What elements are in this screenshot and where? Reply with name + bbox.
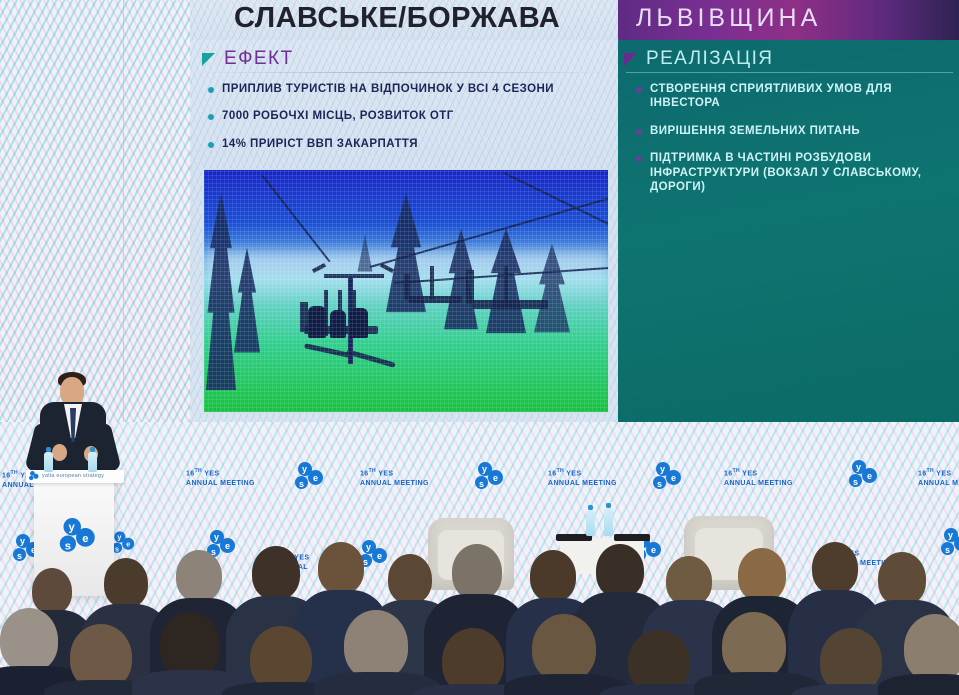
page-title-left: СЛАВСЬКЕ/БОРЖАВА [234, 2, 560, 35]
section-header-realization: РЕАЛІЗАЦІЯ [624, 48, 773, 70]
section-label: РЕАЛІЗАЦІЯ [646, 48, 773, 70]
bullet-dot-icon [208, 142, 214, 148]
audience-head [160, 612, 220, 678]
list-item: ПРИПЛИВ ТУРИСТІВ НА ВІДПОЧИНОК У ВСІ 4 С… [208, 82, 608, 96]
audience-shoulders [878, 674, 959, 695]
divider [626, 72, 953, 73]
yes-logo-icon: yes [472, 462, 506, 496]
list-item: 14% ПРИРІСТ ВВП ЗАКАРПАТТЯ [208, 137, 608, 151]
audience-head [318, 542, 364, 594]
audience-head [666, 556, 712, 606]
audience-head [532, 614, 596, 682]
bullet-dot-icon [636, 129, 642, 135]
divider [200, 72, 608, 73]
audience-head [904, 614, 959, 682]
audience-head [104, 558, 148, 608]
podium-sign-label: yalta european strategy [42, 473, 104, 479]
backdrop-brand-text: 16TH YESANNUAL M [918, 468, 958, 488]
backdrop-brand-text: 16TH YESANNUAL MEETING [360, 468, 429, 488]
list-item-label: ПІДТРИМКА В ЧАСТИНІ РОЗБУДОВИ ІНФРАСТРУК… [650, 151, 949, 194]
yes-logo-icon: yes [846, 460, 880, 494]
list-item-label: 14% ПРИРІСТ ВВП ЗАКАРПАТТЯ [222, 137, 418, 151]
page-title-right: ЛЬВІВЩИНА [636, 4, 821, 33]
list-item-label: ПРИПЛИВ ТУРИСТІВ НА ВІДПОЧИНОК У ВСІ 4 С… [222, 82, 554, 96]
audience-head [0, 608, 58, 672]
backdrop-brand-text: 16TH YESANNUAL MEETING [724, 468, 793, 488]
bullet-dot-icon [208, 114, 214, 120]
list-item: СТВОРЕННЯ СПРИЯТЛИВИХ УМОВ ДЛЯ ІНВЕСТОРА [636, 82, 949, 111]
right-panel: РЕАЛІЗАЦІЯ СТВОРЕННЯ СПРИЯТЛИВИХ УМОВ ДЛ… [618, 40, 959, 422]
left-panel: ЕФЕКТ ПРИПЛИВ ТУРИСТІВ НА ВІДПОЧИНОК У В… [190, 40, 618, 422]
bullet-dot-icon [208, 87, 214, 93]
water-bottle [44, 452, 53, 472]
audience-head [812, 542, 858, 594]
audience-head [176, 550, 222, 602]
audience-head [596, 544, 644, 598]
water-bottle [604, 508, 613, 536]
list-item: ВИРІШЕННЯ ЗЕМЕЛЬНИХ ПИТАНЬ [636, 124, 949, 138]
audience-head [344, 610, 408, 680]
audience-head [530, 550, 576, 602]
audience-head [32, 568, 72, 614]
list-item-label: 7000 РОБОЧХІ МІСЦЬ, РОЗВИТОК ОТГ [222, 109, 454, 123]
audience-head [252, 546, 300, 600]
slide-photo-chairlift [202, 168, 610, 414]
triangle-marker-icon [202, 53, 215, 66]
list-item-label: ВИРІШЕННЯ ЗЕМЕЛЬНИХ ПИТАНЬ [650, 124, 860, 138]
slide-header-band: СЛАВСЬКЕ/БОРЖАВА ЛЬВІВЩИНА [190, 0, 959, 40]
realization-bullet-list: СТВОРЕННЯ СПРИЯТЛИВИХ УМОВ ДЛЯ ІНВЕСТОРА… [636, 82, 949, 207]
podium-yes-logo-icon [28, 471, 40, 483]
backdrop-brand-text: 16TH YESANNUAL MEETING [186, 468, 255, 488]
speaker-hand-left [52, 444, 67, 461]
yes-logo-icon: yes [292, 462, 326, 496]
bullet-dot-icon [636, 87, 642, 93]
audience-head [452, 544, 502, 600]
section-header-effect: ЕФЕКТ [202, 48, 293, 70]
effect-bullet-list: ПРИПЛИВ ТУРИСТІВ НА ВІДПОЧИНОК У ВСІ 4 С… [208, 82, 608, 164]
bullet-dot-icon [636, 156, 642, 162]
audience-head [738, 548, 786, 602]
yes-logo-icon: yes [650, 462, 684, 496]
presentation-slide: СЛАВСЬКЕ/БОРЖАВА ЛЬВІВЩИНА ЕФЕКТ ПРИПЛИВ… [190, 0, 959, 422]
audience-head [722, 612, 786, 680]
water-bottle [88, 452, 97, 472]
list-item: ПІДТРИМКА В ЧАСТИНІ РОЗБУДОВИ ІНФРАСТРУК… [636, 151, 949, 194]
slide-body: ЕФЕКТ ПРИПЛИВ ТУРИСТІВ НА ВІДПОЧИНОК У В… [190, 40, 959, 422]
audience-head [388, 554, 432, 604]
backdrop-brand-text: 16TH YESANNUAL MEETING [548, 468, 617, 488]
audience [0, 540, 959, 695]
water-bottle [586, 510, 595, 536]
list-item-label: СТВОРЕННЯ СПРИЯТЛИВИХ УМОВ ДЛЯ ІНВЕСТОРА [650, 82, 949, 111]
triangle-marker-icon [624, 53, 637, 66]
list-item: 7000 РОБОЧХІ МІСЦЬ, РОЗВИТОК ОТГ [208, 109, 608, 123]
audience-head [878, 552, 926, 606]
conference-photo-scene: СЛАВСЬКЕ/БОРЖАВА ЛЬВІВЩИНА ЕФЕКТ ПРИПЛИВ… [0, 0, 959, 695]
section-label: ЕФЕКТ [224, 48, 293, 70]
